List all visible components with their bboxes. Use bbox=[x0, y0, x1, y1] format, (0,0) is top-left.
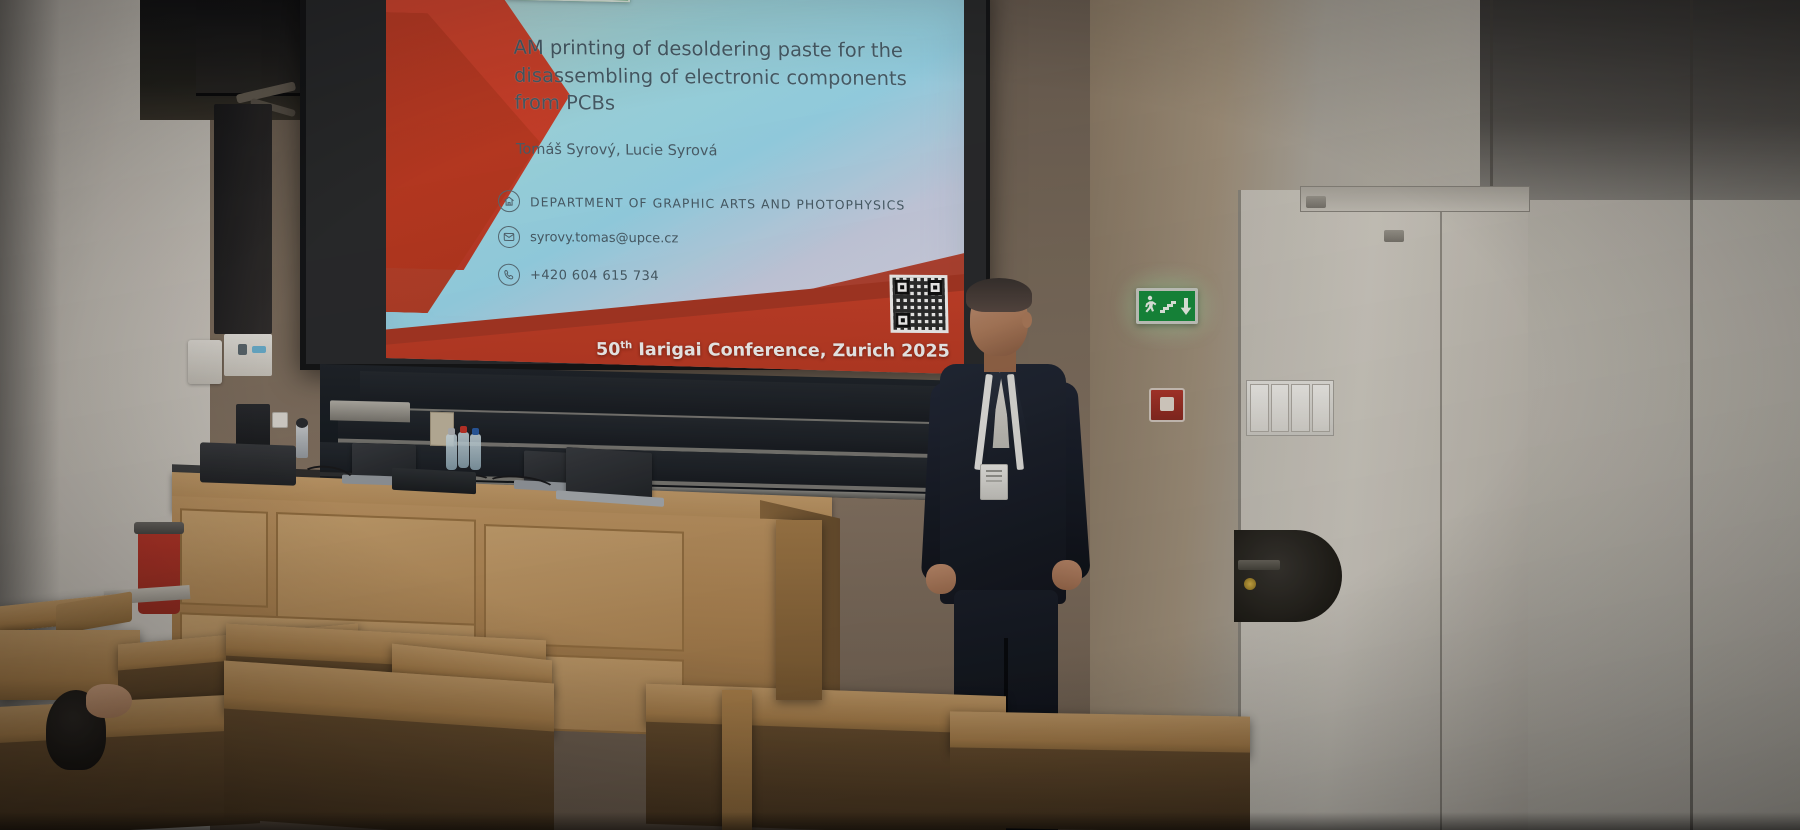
slide-footer-text: Iarigai Conference, Zurich 2025 bbox=[632, 340, 950, 362]
dispenser-label bbox=[252, 346, 266, 353]
paper-towel-dispenser bbox=[224, 334, 272, 376]
contact-department-text: DEPARTMENT OF GRAPHIC ARTS AND PHOTOPHYS… bbox=[530, 194, 906, 212]
slide-footer-ordinal-suffix: th bbox=[620, 340, 632, 351]
notice-plate bbox=[1271, 384, 1290, 432]
slide-footer-ordinal: 50 bbox=[596, 340, 621, 360]
lecture-hall-door[interactable] bbox=[1238, 190, 1528, 830]
lectern-leg bbox=[776, 520, 822, 700]
water-bottle-clear bbox=[446, 434, 457, 470]
fire-alarm-call-point[interactable] bbox=[1149, 388, 1185, 422]
down-arrow-icon bbox=[1179, 295, 1193, 317]
bottle-cap bbox=[448, 428, 455, 435]
waste-bin-lid bbox=[134, 522, 184, 534]
presenter-hair bbox=[966, 278, 1032, 312]
conference-badge bbox=[980, 464, 1008, 500]
notice-plate bbox=[1250, 384, 1269, 432]
contact-email-text: syrovy.tomas@upce.cz bbox=[530, 230, 679, 246]
microphone-stand bbox=[296, 424, 308, 458]
desk-leg bbox=[722, 690, 752, 830]
bottle-cap bbox=[460, 426, 467, 433]
laptop-right[interactable] bbox=[566, 447, 652, 499]
door-seam bbox=[1440, 190, 1442, 830]
lectern-panel bbox=[180, 508, 268, 607]
lecture-hall-photo: JIDEP AM printing of desoldering paste f… bbox=[0, 0, 1800, 830]
projected-slide: JIDEP AM printing of desoldering paste f… bbox=[386, 0, 964, 374]
qr-eye bbox=[895, 313, 910, 328]
soap-dispenser bbox=[188, 340, 222, 384]
stairs-icon bbox=[1160, 295, 1176, 317]
audience-person-hand bbox=[86, 684, 132, 718]
door-notice-plates bbox=[1246, 380, 1334, 436]
lectern-panel bbox=[484, 524, 684, 652]
chalk-tray bbox=[330, 400, 410, 422]
wall-seam bbox=[1690, 0, 1693, 830]
microphone-head bbox=[296, 418, 308, 428]
door-lock-cylinder[interactable] bbox=[1244, 578, 1256, 590]
wall-socket bbox=[272, 412, 288, 428]
contact-phone-text: +420 604 615 734 bbox=[530, 267, 659, 283]
lectern-panel bbox=[276, 512, 476, 632]
right-wall-upper-dark-panel bbox=[1480, 0, 1800, 200]
water-bottle-blue-cap bbox=[470, 434, 481, 470]
phone-icon bbox=[498, 264, 520, 286]
envelope-icon bbox=[498, 226, 520, 248]
slide-footer: 50th Iarigai Conference, Zurich 2025 bbox=[596, 340, 950, 362]
emergency-exit-sign bbox=[1136, 288, 1198, 324]
dispenser-nozzle-icon bbox=[238, 344, 247, 355]
contact-department: DEPARTMENT OF GRAPHIC ARTS AND PHOTOPHYS… bbox=[498, 190, 906, 216]
wall-speaker bbox=[214, 104, 272, 334]
slide-title-line-2: disassembling of electronic components f… bbox=[514, 61, 945, 120]
contact-phone: +420 604 615 734 bbox=[498, 264, 659, 287]
running-person-icon bbox=[1141, 295, 1157, 317]
door-hinge bbox=[1384, 230, 1404, 242]
slide-title: AM printing of desoldering paste for the… bbox=[513, 34, 945, 121]
door-pull-handle[interactable] bbox=[1234, 530, 1342, 622]
printer-device bbox=[200, 442, 296, 485]
slide-title-line-1: AM printing of desoldering paste for the bbox=[513, 34, 943, 65]
home-icon bbox=[498, 190, 520, 212]
door-hinge bbox=[1306, 196, 1326, 208]
presenter-ear bbox=[1022, 312, 1032, 328]
document-camera bbox=[236, 404, 270, 448]
notice-plate bbox=[1312, 384, 1331, 432]
ceiling-speaker bbox=[196, 0, 300, 96]
door-top-rail bbox=[1300, 186, 1530, 212]
notice-plate bbox=[1291, 384, 1310, 432]
av-control-panel[interactable] bbox=[392, 468, 476, 494]
presenter-left-hand bbox=[926, 564, 956, 594]
contact-email: syrovy.tomas@upce.cz bbox=[498, 226, 679, 250]
water-bottle-red-cap bbox=[458, 432, 469, 468]
presenter-right-hand bbox=[1052, 560, 1082, 590]
door-push-bar[interactable] bbox=[1238, 560, 1280, 570]
jidep-logo: JIDEP bbox=[506, 0, 630, 2]
qr-eye bbox=[895, 280, 910, 295]
bottle-cap bbox=[472, 428, 479, 435]
slide-authors: Tomáš Syrový, Lucie Syrová bbox=[516, 142, 718, 160]
foreground-shadow bbox=[0, 812, 1800, 830]
